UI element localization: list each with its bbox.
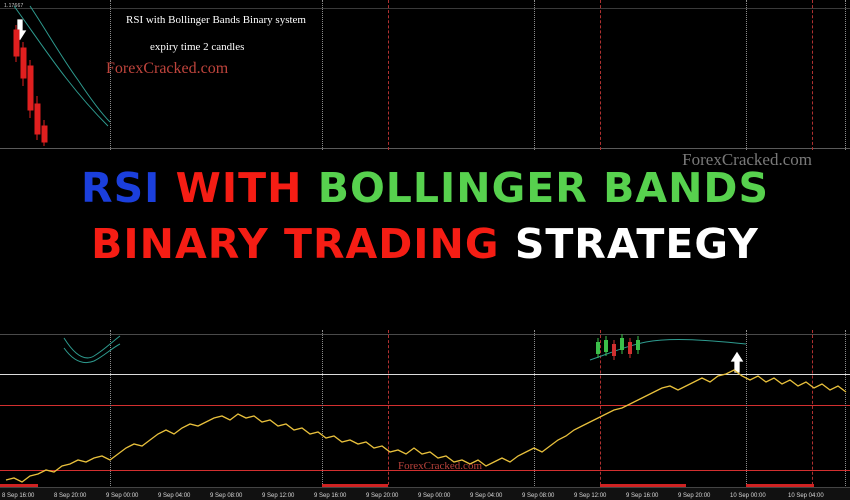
hero-line-2: BINARY TRADING STRATEGY: [0, 216, 850, 272]
bottom-chart-panel: ForexCracked.com 8 Sep 16:00 8 Sep 20:00…: [0, 330, 850, 500]
hero-word-bands: BANDS: [603, 164, 769, 212]
x-tick: 9 Sep 04:00: [158, 493, 190, 499]
x-tick: 8 Sep 20:00: [54, 493, 86, 499]
bottom-chart-x-axis: 8 Sep 16:00 8 Sep 20:00 9 Sep 00:00 9 Se…: [0, 487, 850, 500]
hero-word-trading: TRADING: [284, 220, 500, 268]
x-tick: 9 Sep 16:00: [314, 493, 346, 499]
x-tick: 9 Sep 20:00: [678, 493, 710, 499]
top-chart-panel: 1.17667 RSI with Bollinger Bands Binary …: [0, 0, 850, 150]
top-chart-subtitle: expiry time 2 candles: [150, 41, 244, 53]
hero-word-with: WITH: [176, 164, 303, 212]
watermark-bottom: ForexCracked.com: [398, 460, 482, 472]
watermark-top: ForexCracked.com: [106, 60, 228, 78]
screenshot-root: 1.17667 RSI with Bollinger Bands Binary …: [0, 0, 850, 500]
x-tick: 10 Sep 00:00: [730, 493, 766, 499]
x-tick: 9 Sep 12:00: [574, 493, 606, 499]
x-tick: 10 Sep 04:00: [788, 493, 824, 499]
hero-title: RSI WITH BOLLINGER BANDS BINARY TRADING …: [0, 160, 850, 272]
x-tick: 9 Sep 16:00: [626, 493, 658, 499]
hero-word-bollinger: BOLLINGER: [318, 164, 588, 212]
x-tick: 9 Sep 00:00: [418, 493, 450, 499]
hero-line-1: RSI WITH BOLLINGER BANDS: [0, 160, 850, 216]
hero-word-rsi: RSI: [81, 164, 160, 212]
x-tick: 9 Sep 00:00: [106, 493, 138, 499]
x-tick: 8 Sep 16:00: [2, 493, 34, 499]
x-tick: 9 Sep 20:00: [366, 493, 398, 499]
x-tick: 9 Sep 12:00: [262, 493, 294, 499]
x-tick: 9 Sep 04:00: [470, 493, 502, 499]
x-tick: 9 Sep 08:00: [522, 493, 554, 499]
top-chart-title: RSI with Bollinger Bands Binary system: [126, 14, 306, 26]
hero-word-binary: BINARY: [91, 220, 269, 268]
hero-word-strategy: STRATEGY: [515, 220, 759, 268]
x-tick: 9 Sep 08:00: [210, 493, 242, 499]
